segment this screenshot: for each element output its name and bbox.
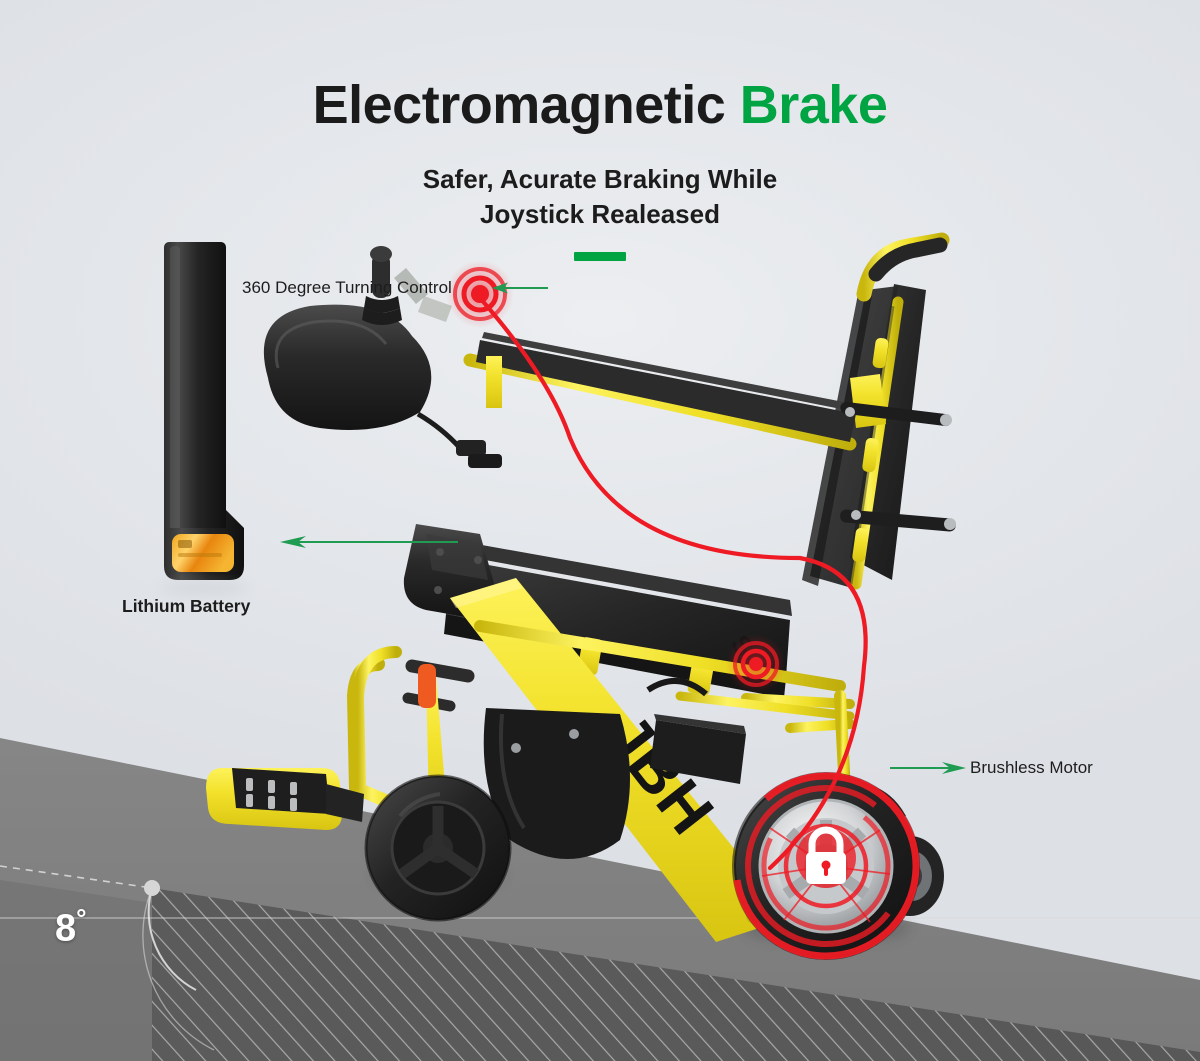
front-loop xyxy=(358,652,396,784)
product-feature-poster: 8° xyxy=(0,0,1200,1061)
callout-label-battery: Lithium Battery xyxy=(122,596,250,617)
joystick-knob xyxy=(370,246,392,262)
title-divider xyxy=(574,252,626,261)
page-subtitle: Safer, Acurate Braking While Joystick Re… xyxy=(0,162,1200,232)
armrest-rivet-1 xyxy=(436,548,444,556)
callout-label-motor: Brushless Motor xyxy=(970,758,1093,778)
battery-label-stripe xyxy=(178,553,222,557)
incline-angle-readout: 8° xyxy=(55,905,87,948)
battery-shadow xyxy=(160,581,248,595)
arrow-right-icon-motor xyxy=(890,761,966,775)
quick-release-tab xyxy=(418,664,436,708)
armrest-rivet-3 xyxy=(434,586,442,594)
battery-highlight xyxy=(170,246,180,538)
rear-drive-wheel xyxy=(711,751,944,982)
arrow-left-icon-battery xyxy=(280,535,458,549)
arrow-left-icon-turning xyxy=(492,281,548,295)
battery-label-mark xyxy=(178,540,192,548)
title-main: Electromagnetic xyxy=(313,75,740,135)
footrest xyxy=(206,768,364,830)
crossbar-bolt xyxy=(944,518,956,530)
front-caster-wheel xyxy=(366,776,510,920)
subtitle-line-2: Joystick Realeased xyxy=(0,197,1200,232)
power-wheelchair: JBH S xyxy=(206,240,956,981)
armrest-rear-bolt xyxy=(940,414,952,426)
footplate-surface xyxy=(232,768,330,814)
joystick-boot-1 xyxy=(364,296,400,313)
page-title: Electromagnetic Brake xyxy=(0,78,1200,132)
cable-connector xyxy=(456,440,486,456)
cable-connector-2 xyxy=(468,454,502,468)
armrest-pad xyxy=(476,340,856,442)
controller-cable xyxy=(418,414,460,448)
title-accent: Brake xyxy=(740,75,888,135)
subtitle-line-1: Safer, Acurate Braking While xyxy=(0,162,1200,197)
angle-value: 8 xyxy=(55,908,76,950)
callout-label-turning: 360 Degree Turning Control xyxy=(242,278,452,298)
lithium-battery-product xyxy=(160,242,248,595)
bag-snap-2 xyxy=(569,729,579,739)
recline-bracket xyxy=(850,374,886,428)
product-illustration: JBH S xyxy=(150,228,1150,988)
armrest-mount xyxy=(486,356,502,408)
crossbar-bolt-2 xyxy=(851,510,861,520)
bag-snap-1 xyxy=(511,743,521,753)
armrest-front-bolt xyxy=(845,407,855,417)
angle-unit: ° xyxy=(76,903,86,933)
brake-marker-axle xyxy=(726,634,786,694)
armrest-rivet-2 xyxy=(474,556,482,564)
